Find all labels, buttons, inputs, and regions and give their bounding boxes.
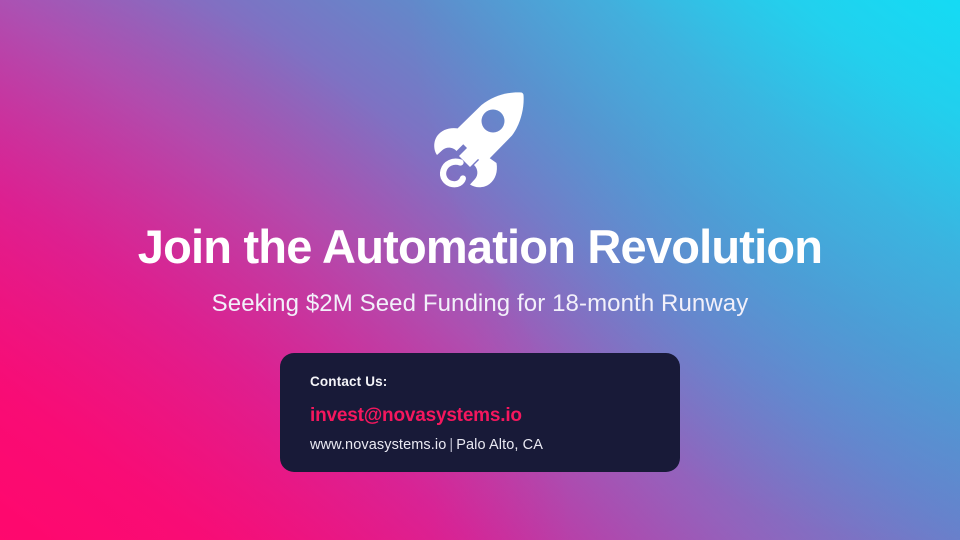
contact-card: Contact Us: invest@novasystems.io www.no… — [280, 353, 680, 472]
page-subtitle: Seeking $2M Seed Funding for 18-month Ru… — [212, 290, 749, 318]
page-title: Join the Automation Revolution — [138, 222, 822, 271]
contact-location: Palo Alto, CA — [456, 437, 543, 453]
rocket-icon — [424, 84, 536, 196]
contact-meta: www.novasystems.io|Palo Alto, CA — [310, 438, 650, 453]
contact-separator: | — [446, 437, 456, 453]
pitch-deck-closing-slide: Join the Automation Revolution Seeking $… — [0, 0, 960, 540]
contact-label: Contact Us: — [310, 375, 650, 389]
contact-website[interactable]: www.novasystems.io — [310, 437, 446, 453]
contact-email[interactable]: invest@novasystems.io — [310, 406, 650, 425]
